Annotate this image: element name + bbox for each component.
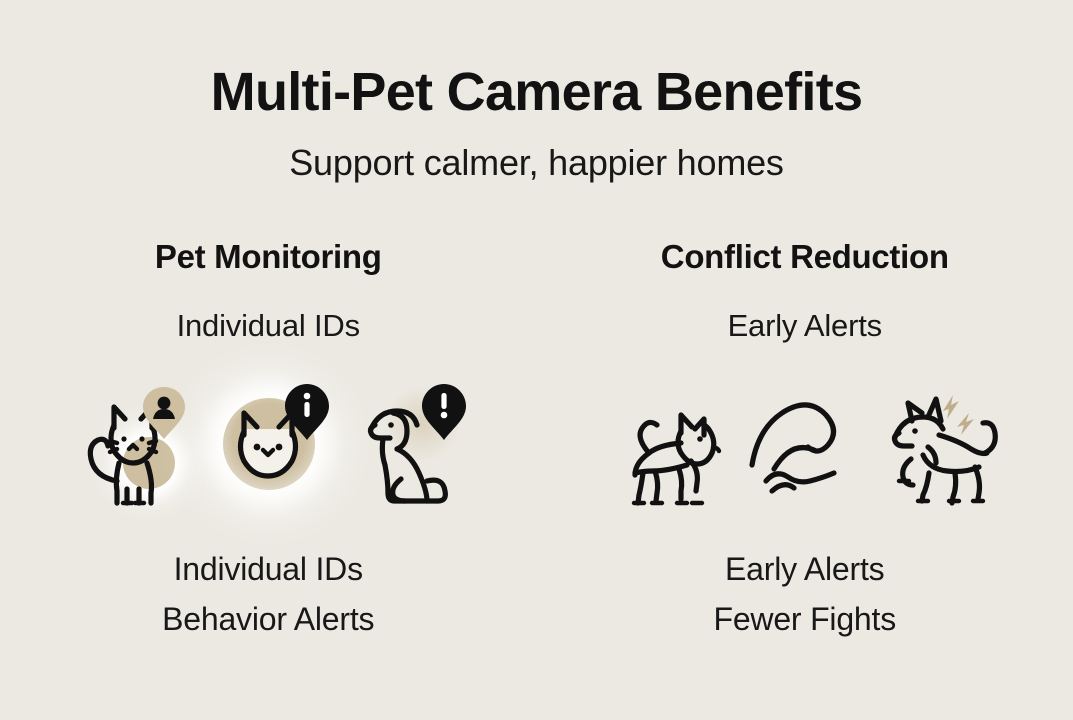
sitting-cat-with-person-pin-icon [67,381,192,506]
person-pin-icon [141,385,187,441]
bottom-label: Individual IDs [174,552,363,588]
column-subheading: Early Alerts [728,308,882,344]
poster-header: Multi-Pet Camera Benefits Support calmer… [0,64,1073,182]
bottom-label: Fewer Fights [713,602,896,638]
wave-glyph [742,381,867,506]
poster-canvas: Multi-Pet Camera Benefits Support calmer… [0,0,1073,720]
icon-row-conflict-reduction [603,378,1006,508]
page-subtitle: Support calmer, happier homes [0,143,1073,183]
walking-cat-icon [603,381,728,506]
bottom-label: Early Alerts [725,552,884,588]
alert-pin-icon [421,383,467,441]
bottom-labels-pet-monitoring: Individual IDs Behavior Alerts [162,552,374,638]
bottom-labels-conflict-reduction: Early Alerts Fewer Fights [713,552,896,638]
column-pet-monitoring: Pet Monitoring Individual IDs [0,238,537,638]
wave-icon [742,381,867,506]
bottom-label: Behavior Alerts [162,602,374,638]
benefit-columns: Pet Monitoring Individual IDs [0,238,1073,638]
walking-cat-glyph [603,381,728,506]
column-subheading: Individual IDs [177,308,360,344]
barking-dog-glyph [881,381,1006,506]
column-heading: Pet Monitoring [155,238,382,276]
sitting-dog-alert-pin-icon [345,381,470,506]
info-pin-icon [284,383,330,441]
column-conflict-reduction: Conflict Reduction Early Alerts [537,238,1073,638]
icon-row-pet-monitoring [67,378,470,508]
cat-face-info-pin-icon [206,381,331,506]
barking-dog-icon [881,381,1006,506]
page-title: Multi-Pet Camera Benefits [0,64,1073,121]
column-heading: Conflict Reduction [661,238,949,276]
